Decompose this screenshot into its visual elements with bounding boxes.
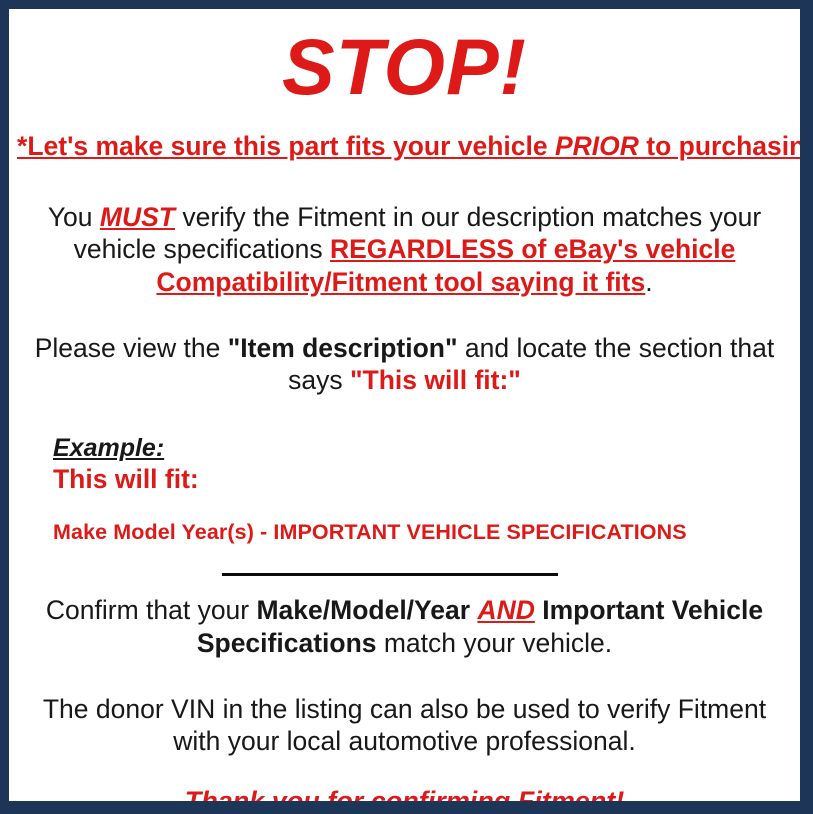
must-emphasis-must: MUST [100, 202, 175, 232]
fitment-notice-card: STOP! *Let's make sure this part fits yo… [0, 0, 813, 814]
subtitle-text-part2: to purchasing* [639, 131, 813, 161]
subtitle-text-part1: *Let's make sure this part fits your veh… [17, 131, 555, 161]
example-block: Example: This will fit: Make Model Year(… [9, 435, 800, 545]
confirm-text-part4: match your vehicle. [377, 628, 613, 658]
must-text-part1: You [48, 202, 100, 232]
notice-content-area: STOP! *Let's make sure this part fits yo… [9, 27, 800, 814]
confirm-text-part1: Confirm that your [46, 595, 257, 625]
example-spec-line: Make Model Year(s) - IMPORTANT VEHICLE S… [53, 521, 800, 545]
page-title: STOP! [9, 27, 800, 106]
paragraph-confirm: Confirm that your Make/Model/Year AND Im… [9, 594, 800, 659]
view-emphasis-item-description: "Item description" [228, 333, 458, 363]
paragraph-view-description: Please view the "Item description" and l… [9, 332, 800, 397]
thank-you-line: Thank you for confirming Fitment! [9, 786, 800, 814]
confirm-emphasis-and: AND [477, 595, 534, 625]
must-text-part3: . [645, 267, 652, 297]
paragraph-must-verify: You MUST verify the Fitment in our descr… [9, 201, 800, 298]
view-emphasis-this-will-fit: "This will fit:" [350, 365, 521, 395]
confirm-emphasis-make-model-year: Make/Model/Year [256, 595, 470, 625]
paragraph-donor-vin: The donor VIN in the listing can also be… [9, 693, 800, 758]
divider-container [9, 568, 800, 582]
subtitle-line: *Let's make sure this part fits your veh… [9, 132, 800, 161]
example-label: Example: [53, 435, 164, 463]
view-text-part1: Please view the [35, 333, 228, 363]
example-label-wrap: Example: [53, 435, 800, 463]
horizontal-rule-icon [222, 573, 558, 576]
example-fit-heading: This will fit: [53, 464, 800, 494]
subtitle-emphasis-prior: PRIOR [555, 131, 639, 161]
